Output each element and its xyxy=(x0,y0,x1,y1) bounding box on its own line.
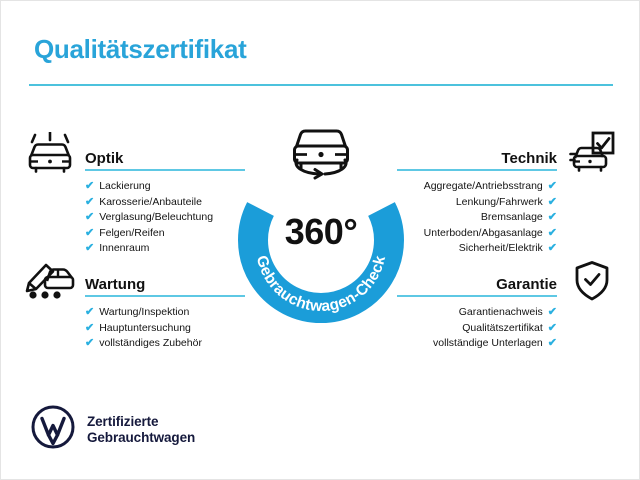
list-item: Lenkung/Fahrwerk ✔ xyxy=(397,195,557,211)
section-divider xyxy=(397,169,557,171)
list-item-label: Felgen/Reifen xyxy=(99,226,164,242)
list-item-label: Verglasung/Beleuchtung xyxy=(99,210,213,226)
list-item: Unterboden/Abgasanlage ✔ xyxy=(397,226,557,242)
shield-check-icon xyxy=(573,260,611,307)
check-icon: ✔ xyxy=(548,323,557,334)
section-title: Garantie xyxy=(496,276,557,293)
list-item: ✔ Wartung/Inspektion xyxy=(85,305,245,321)
list-item: ✔ Verglasung/Beleuchtung xyxy=(85,210,245,226)
list-item: ✔ Lackierung xyxy=(85,179,245,195)
badge-center-label: 360° xyxy=(228,211,414,253)
list-item: ✔ Hauptuntersuchung xyxy=(85,321,245,337)
list-item-label: vollständiges Zubehör xyxy=(99,336,202,352)
list-item: Bremsanlage ✔ xyxy=(397,210,557,226)
list-item: ✔ Innenraum xyxy=(85,241,245,257)
list-item-label: Wartung/Inspektion xyxy=(99,305,189,321)
list-item-label: Lenkung/Fahrwerk xyxy=(456,195,543,211)
list-item: ✔ vollständiges Zubehör xyxy=(85,336,245,352)
qualitaetszertifikat-page: Qualitätszertifikat xyxy=(0,0,640,480)
list-item-label: Bremsanlage xyxy=(481,210,543,226)
list-item-label: Aggregate/Antriebsstrang xyxy=(424,179,543,195)
footer-branding: Zertifizierte Gebrauchtwagen xyxy=(31,405,195,454)
list-item-label: Innenraum xyxy=(99,241,149,257)
list-item-label: vollständige Unterlagen xyxy=(433,336,543,352)
car-checkbox-icon xyxy=(569,131,615,180)
checklist-garantie: Garantienachweis ✔ Qualitätszertifikat ✔… xyxy=(397,305,557,352)
list-item-label: Lackierung xyxy=(99,179,150,195)
section-divider xyxy=(85,295,245,297)
car-shine-icon xyxy=(25,132,75,179)
check-icon: ✔ xyxy=(85,181,94,192)
section-optik: Optik ✔ Lackierung ✔ Karosserie/Anbautei… xyxy=(85,141,245,257)
check-icon: ✔ xyxy=(85,228,94,239)
title-divider xyxy=(29,84,613,86)
check-icon: ✔ xyxy=(548,307,557,318)
list-item: Sicherheit/Elektrik ✔ xyxy=(397,241,557,257)
check-icon: ✔ xyxy=(548,212,557,223)
check-icon: ✔ xyxy=(85,338,94,349)
check-icon: ✔ xyxy=(85,243,94,254)
vw-logo xyxy=(31,405,75,454)
list-item: Aggregate/Antriebsstrang ✔ xyxy=(397,179,557,195)
checklist-wartung: ✔ Wartung/Inspektion ✔ Hauptuntersuchung… xyxy=(85,305,245,352)
checklist-optik: ✔ Lackierung ✔ Karosserie/Anbauteile ✔ V… xyxy=(85,179,245,257)
section-title: Wartung xyxy=(85,276,145,293)
vw-certified-label: Zertifizierte Gebrauchtwagen xyxy=(87,414,195,446)
list-item: ✔ Felgen/Reifen xyxy=(85,226,245,242)
car-rotation-icon xyxy=(279,121,363,183)
pencil-car-icon xyxy=(23,258,77,305)
section-header-garantie: Garantie xyxy=(397,267,557,297)
list-item-label: Unterboden/Abgasanlage xyxy=(424,226,543,242)
list-item: vollständige Unterlagen ✔ xyxy=(397,336,557,352)
list-item-label: Hauptuntersuchung xyxy=(99,321,191,337)
page-title: Qualitätszertifikat xyxy=(34,34,246,65)
checklist-technik: Aggregate/Antriebsstrang ✔ Lenkung/Fahrw… xyxy=(397,179,557,257)
section-header-wartung: Wartung xyxy=(85,267,245,297)
section-divider xyxy=(85,169,245,171)
section-header-technik: Technik xyxy=(397,141,557,171)
vw-label-line2: Gebrauchtwagen xyxy=(87,430,195,446)
check-icon: ✔ xyxy=(548,181,557,192)
list-item-label: Qualitätszertifikat xyxy=(462,321,543,337)
section-technik: Technik Aggregate/Antriebsstrang ✔ Lenku… xyxy=(397,141,557,257)
section-garantie: Garantie Garantienachweis ✔ Qualitätszer… xyxy=(397,267,557,352)
list-item: ✔ Karosserie/Anbauteile xyxy=(85,195,245,211)
section-divider xyxy=(397,295,557,297)
list-item-label: Karosserie/Anbauteile xyxy=(99,195,202,211)
check-icon: ✔ xyxy=(548,197,557,208)
check-icon: ✔ xyxy=(548,338,557,349)
vw-label-line1: Zertifizierte xyxy=(87,414,195,430)
list-item-label: Garantienachweis xyxy=(459,305,543,321)
check-icon: ✔ xyxy=(85,197,94,208)
list-item: Garantienachweis ✔ xyxy=(397,305,557,321)
list-item: Qualitätszertifikat ✔ xyxy=(397,321,557,337)
check-icon: ✔ xyxy=(85,323,94,334)
check-icon: ✔ xyxy=(85,212,94,223)
check-icon: ✔ xyxy=(548,228,557,239)
section-title: Optik xyxy=(85,150,123,167)
section-header-optik: Optik xyxy=(85,141,245,171)
section-wartung: Wartung ✔ Wartung/Inspektion ✔ Hauptunte… xyxy=(85,267,245,352)
section-title: Technik xyxy=(501,150,557,167)
list-item-label: Sicherheit/Elektrik xyxy=(459,241,543,257)
check-icon: ✔ xyxy=(85,307,94,318)
check-icon: ✔ xyxy=(548,243,557,254)
